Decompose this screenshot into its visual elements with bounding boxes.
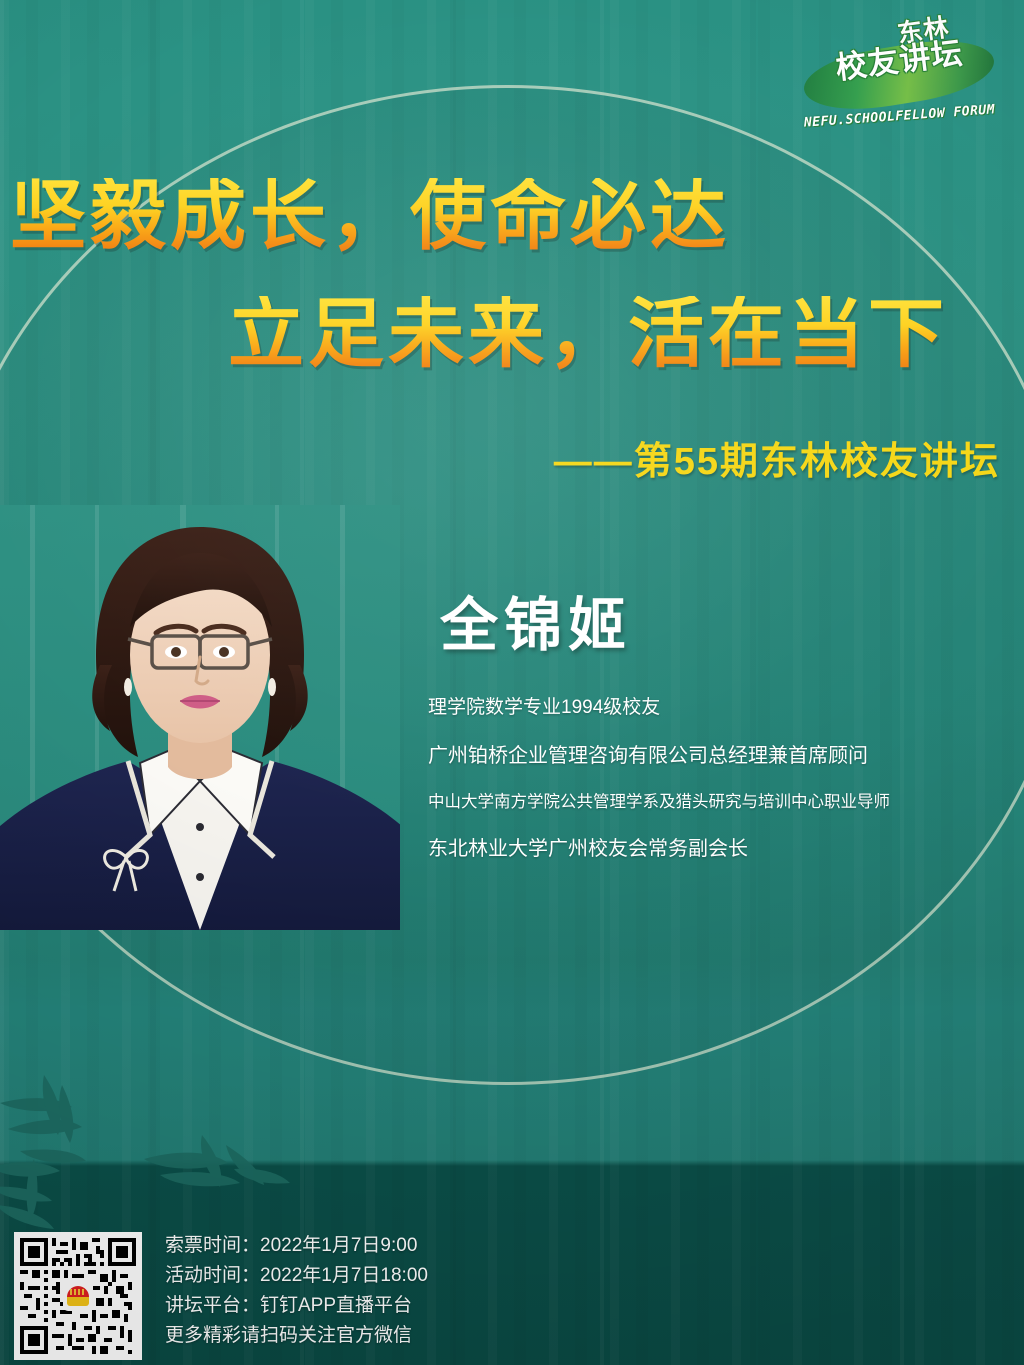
credential-line: 广州铂桥企业管理咨询有限公司总经理兼首席顾问: [428, 739, 1018, 768]
info-row-event-time: 活动时间：2022年1月7日18:00: [165, 1266, 805, 1285]
speaker-photo: [0, 505, 400, 930]
info-row-platform: 讲坛平台：钉钉APP直播平台: [165, 1296, 805, 1315]
title-line-1: 坚毅成长，使命必达: [0, 178, 1024, 254]
speaker-credentials: 理学院数学专业1994级校友 广州铂桥企业管理咨询有限公司总经理兼首席顾问 中山…: [428, 692, 1018, 861]
info-row-ticket-time: 索票时间：2022年1月7日9:00: [165, 1236, 805, 1255]
info-row-wechat-hint: 更多精彩请扫码关注官方微信: [165, 1326, 805, 1345]
logo-chinese-text: 东林 校友讲坛: [797, 18, 1002, 77]
credential-line: 东北林业大学广州校友会常务副会长: [428, 832, 1018, 861]
wechat-qr-code[interactable]: [14, 1232, 142, 1360]
poster-title: 坚毅成长，使命必达 立足未来，活在当下: [0, 178, 1024, 372]
forum-logo: 东林 校友讲坛 NEFU.SCHOOLFELLOW FORUM: [797, 16, 1002, 126]
poster-root: 东林 校友讲坛 NEFU.SCHOOLFELLOW FORUM 坚毅成长，使命必…: [0, 0, 1024, 1365]
credential-line: 中山大学南方学院公共管理学系及猎头研究与培训中心职业导师: [428, 788, 1018, 812]
credential-line: 理学院数学专业1994级校友: [428, 692, 1018, 719]
bamboo-leaves-decoration-small: [130, 1115, 300, 1205]
event-info-block: 索票时间：2022年1月7日9:00 活动时间：2022年1月7日18:00 讲…: [165, 1236, 805, 1345]
qr-center-logo-icon: [63, 1281, 93, 1311]
red-cap-icon: [67, 1286, 89, 1306]
poster-subtitle: ——第55期东林校友讲坛: [0, 430, 1000, 485]
speaker-name: 全锦姬: [440, 578, 632, 662]
title-line-2: 立足未来，活在当下: [0, 296, 1024, 372]
